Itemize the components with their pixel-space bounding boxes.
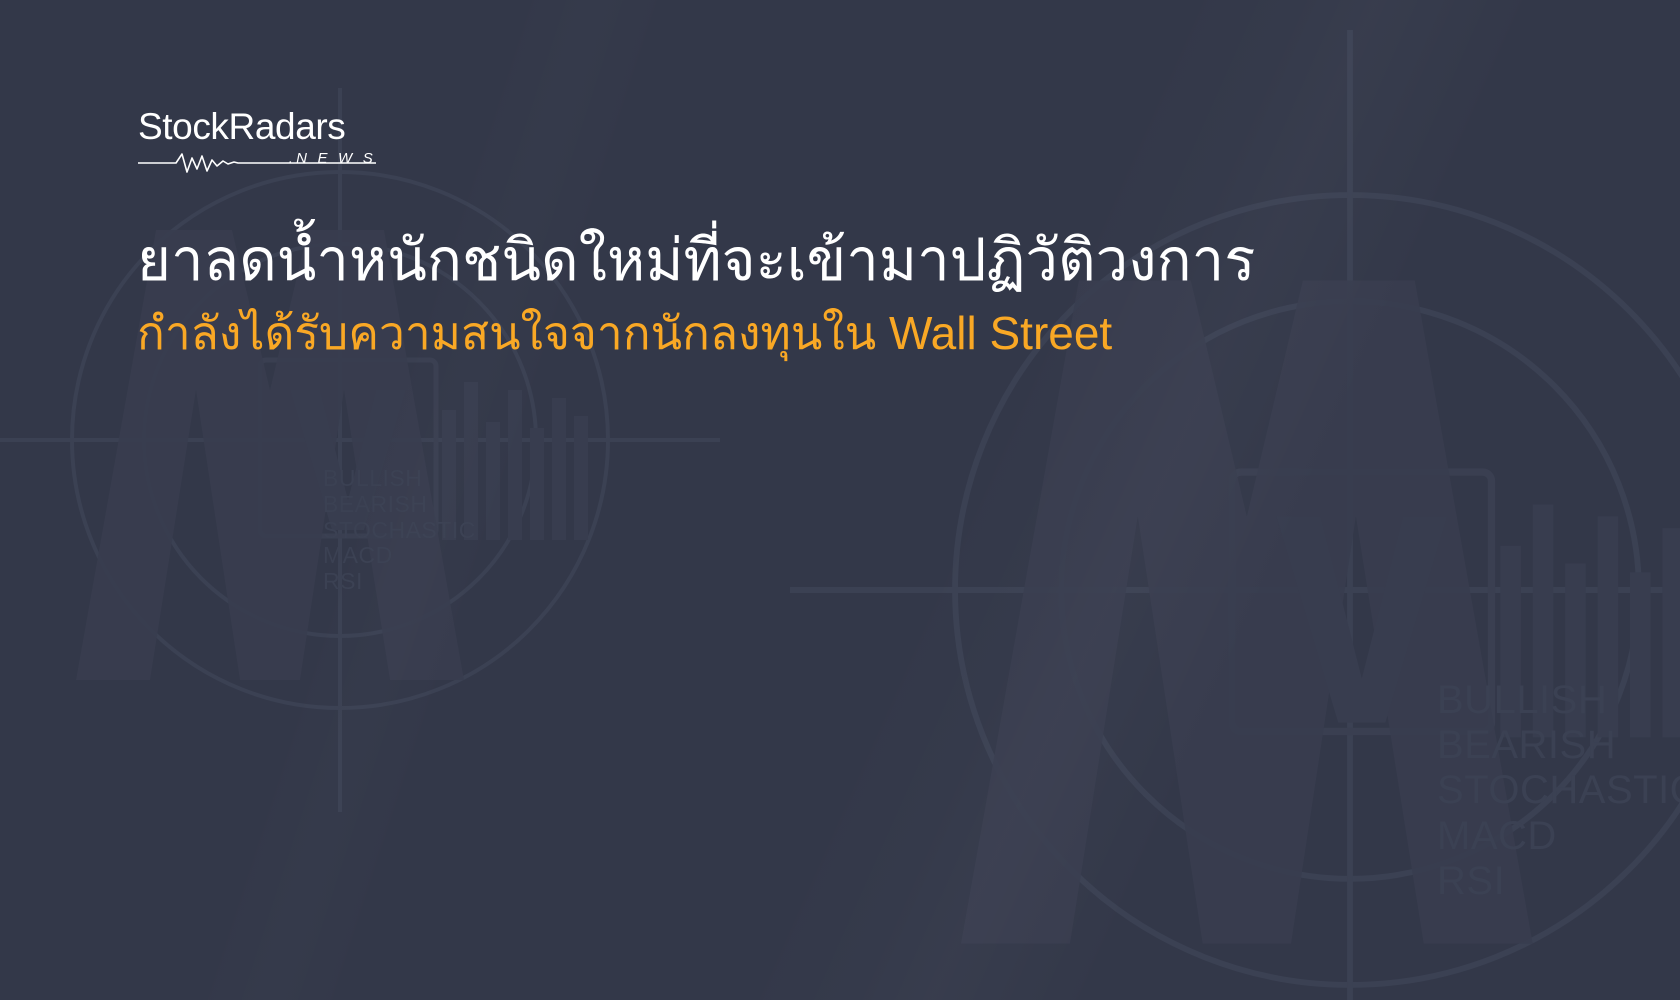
headline-primary: ยาลดน้ำหนักชนิดใหม่ที่จะเข้ามาปฏิวัติวงก… (137, 226, 1537, 297)
watermark-indicator-item: BEARISH (323, 492, 476, 518)
watermark-indicator-item: BULLISH (323, 466, 476, 492)
radar-target-graphic-right (790, 30, 1680, 1000)
diagonal-light-streak (618, 0, 1631, 1000)
headline-block: ยาลดน้ำหนักชนิดใหม่ที่จะเข้ามาปฏิวัติวงก… (137, 226, 1537, 361)
stockradars-logo[interactable]: StockRadars .N E W S (138, 108, 388, 176)
logo-news-suffix: .N E W S (289, 151, 376, 166)
watermark-indicator-item: BULLISH (1437, 678, 1680, 723)
watermark-indicator-item: BEARISH (1437, 723, 1680, 768)
headline-secondary: กำลังได้รับความสนใจจากนักลงทุนใน Wall St… (137, 305, 1537, 361)
watermark-indicator-item: MACD (1437, 814, 1680, 859)
watermark-indicator-list-right: BULLISH BEARISH STOCHASTIC MACD RSI (1437, 678, 1680, 904)
watermark-indicator-item: RSI (323, 569, 476, 595)
watermark-indicator-item: RSI (1437, 859, 1680, 904)
news-cover-card: BULLISH BEARISH STOCHASTIC MACD RSI (0, 0, 1680, 1000)
watermark-indicator-list-left: BULLISH BEARISH STOCHASTIC MACD RSI (323, 466, 476, 595)
watermark-indicator-item: MACD (323, 543, 476, 569)
logo-underline-row: .N E W S (138, 150, 376, 176)
watermark-indicator-item: STOCHASTIC (1437, 768, 1680, 813)
logo-wordmark: StockRadars (138, 108, 388, 145)
watermark-indicator-item: STOCHASTIC (323, 518, 476, 544)
